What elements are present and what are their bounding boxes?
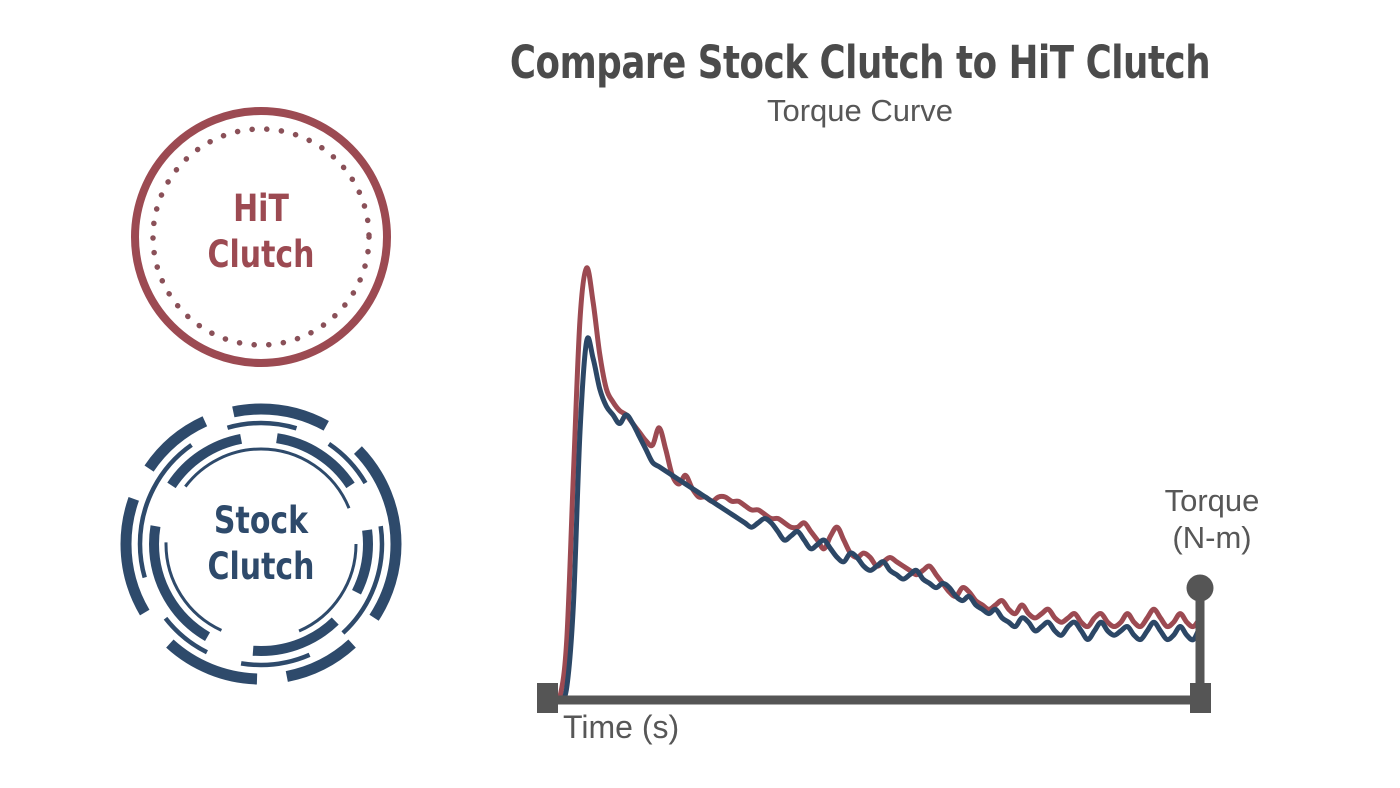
badge-stock-clutch[interactable]: Stock Clutch <box>115 398 407 690</box>
chart-series-layer <box>547 268 1200 702</box>
chart-line-hit-clutch <box>547 268 1200 702</box>
y-axis-label-line2: (N-m) <box>1147 519 1277 556</box>
torque-curve-chart <box>500 120 1290 760</box>
y-axis-end-dot <box>1187 575 1214 602</box>
stock-clutch-rings-icon <box>115 398 407 690</box>
title-block: Compare Stock Clutch to HiT Clutch Torqu… <box>420 38 1300 130</box>
y-axis-label-line1: Torque <box>1147 482 1277 519</box>
x-axis-label: Time (s) <box>563 708 679 746</box>
slide-canvas: Compare Stock Clutch to HiT Clutch Torqu… <box>0 0 1400 788</box>
chart-axis-layer <box>537 575 1214 714</box>
x-axis-end-cap <box>1190 683 1211 713</box>
badge-hit-clutch[interactable]: HiT Clutch <box>128 104 394 370</box>
chart-line-stock-clutch <box>547 338 1200 701</box>
x-axis-origin-cap <box>537 683 558 713</box>
y-axis-label: Torque (N-m) <box>1147 482 1277 556</box>
hit-clutch-rings-icon <box>128 104 394 370</box>
page-title: Compare Stock Clutch to HiT Clutch <box>473 38 1247 88</box>
